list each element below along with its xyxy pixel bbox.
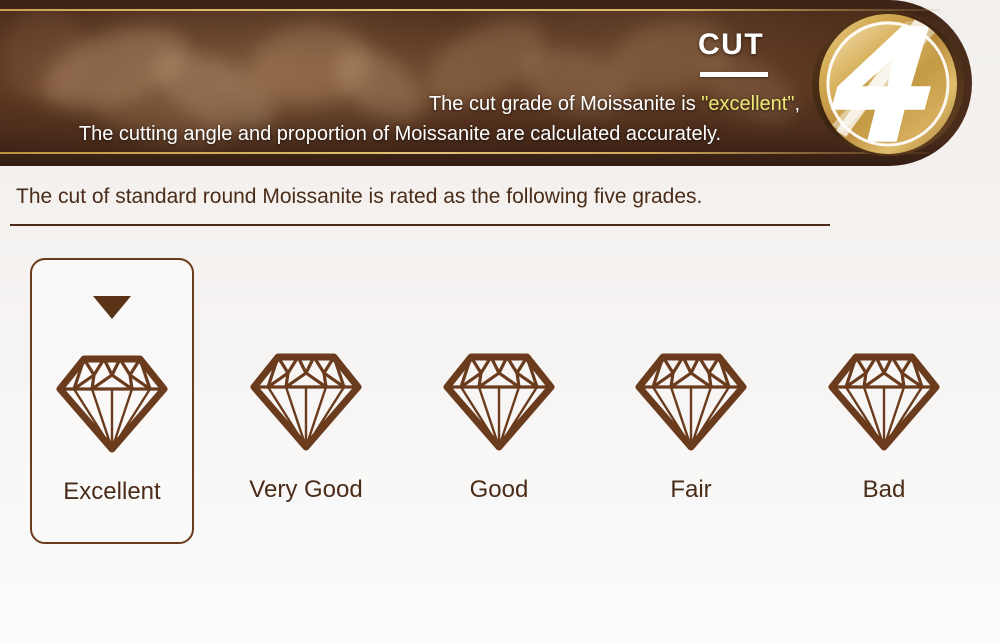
- grade-label: Excellent: [32, 478, 192, 506]
- banner-title: CUT: [698, 28, 764, 62]
- diamond-icon: [54, 351, 170, 455]
- diamond-icon: [248, 349, 364, 453]
- grade-label: Good: [417, 476, 581, 504]
- grade-card-fair[interactable]: Fair: [609, 258, 773, 544]
- grade-card-very-good[interactable]: Very Good: [224, 258, 388, 544]
- page-intro-text: The cut of standard round Moissanite is …: [16, 185, 702, 209]
- grade-card-good[interactable]: Good: [417, 258, 581, 544]
- banner-subtitle-highlight: "excellent": [701, 93, 794, 115]
- banner-gold-line-top: [0, 9, 940, 11]
- diamond-icon: [826, 349, 942, 453]
- section-divider: [10, 224, 830, 226]
- number-four-badge-icon: 4: [810, 11, 966, 157]
- grade-list: Excellent Very Good: [0, 258, 1000, 548]
- banner-title-underline: [700, 72, 768, 77]
- grade-label: Very Good: [224, 476, 388, 504]
- banner-subtitle-line-1: The cut grade of Moissanite is "excellen…: [0, 93, 800, 116]
- grade-label: Bad: [802, 476, 966, 504]
- grade-card-excellent[interactable]: Excellent: [30, 258, 194, 544]
- diamond-icon: [633, 349, 749, 453]
- banner-subtitle-prefix: The cut grade of Moissanite is: [429, 93, 701, 115]
- cut-banner: CUT The cut grade of Moissanite is "exce…: [0, 0, 1000, 168]
- grade-card-bad[interactable]: Bad: [802, 258, 966, 544]
- banner-texture: [323, 35, 437, 135]
- banner-subtitle-line-2: The cutting angle and proportion of Mois…: [0, 123, 800, 146]
- banner-subtitle-suffix: ,: [794, 93, 800, 115]
- banner-gold-line-bottom: [0, 152, 930, 154]
- selected-pointer-icon: [93, 296, 131, 319]
- diamond-icon: [441, 349, 557, 453]
- grade-label: Fair: [609, 476, 773, 504]
